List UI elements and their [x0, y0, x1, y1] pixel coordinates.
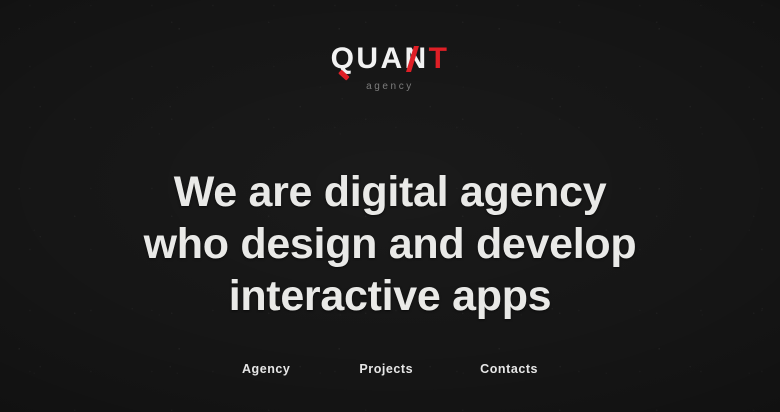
page-title: We are digital agency who design and dev… — [0, 166, 780, 322]
logo-letter-u: U — [356, 44, 380, 74]
brand-logo[interactable]: QUANT agency — [0, 44, 780, 92]
nav-link-projects[interactable]: Projects — [357, 359, 415, 379]
hero-section: QUANT agency We are digital agency who d… — [0, 0, 780, 412]
nav-link-contacts[interactable]: Contacts — [478, 359, 540, 379]
logo-n-diagonal-accent — [406, 46, 419, 72]
hero-content: QUANT agency We are digital agency who d… — [0, 0, 780, 412]
brand-subtitle: agency — [0, 81, 780, 92]
brand-wordmark: QUANT — [331, 44, 450, 74]
logo-letter-t: T — [429, 44, 450, 74]
logo-letter-n: N — [405, 44, 429, 74]
headline-line-3: interactive apps — [0, 270, 780, 322]
nav-link-agency[interactable]: Agency — [240, 359, 292, 379]
headline-line-2: who design and develop — [0, 218, 780, 270]
logo-letter-q: Q — [331, 44, 357, 74]
bottom-navigation: Agency Projects Contacts — [0, 359, 780, 379]
headline-line-1: We are digital agency — [0, 166, 780, 218]
logo-letter-a: A — [380, 44, 404, 74]
